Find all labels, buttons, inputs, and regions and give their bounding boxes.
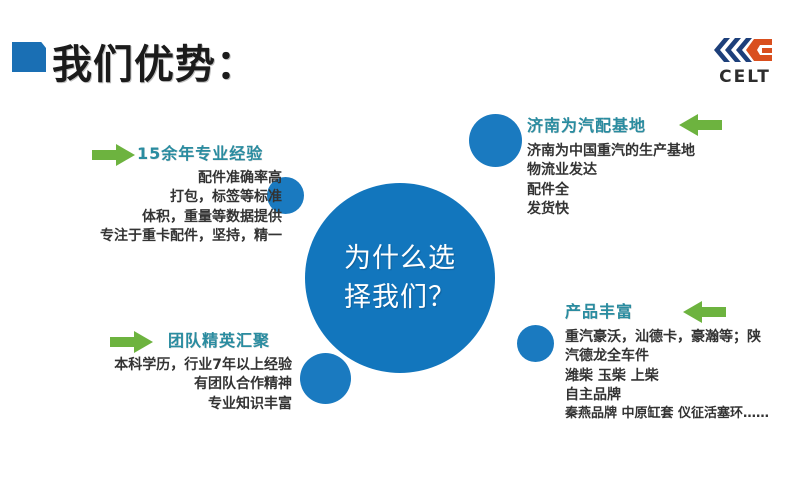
- feature-heading-products: 产品丰富: [565, 298, 800, 322]
- celt-chevron-c-logo-icon: [710, 33, 780, 67]
- feature-body-products: 重汽豪沃，汕德卡，豪瀚等；陕 汽德龙全车件 潍柴 玉柴 上柴 自主品牌 秦燕品牌…: [565, 328, 800, 423]
- feature-body-team: 本科学历，行业7年以上经验 有团队合作精神 专业知识丰富: [0, 356, 310, 414]
- feature-heading-team: 团队精英汇聚: [168, 327, 310, 351]
- feature-block-products: 产品丰富 重汽豪沃，汕德卡，豪瀚等；陕 汽德龙全车件 潍柴 玉柴 上柴 自主品牌…: [565, 298, 800, 423]
- slide-canvas: 我们优势： CELT 为什么选择我们？ 15余年专业经验 配件准确率高 打包，标…: [0, 0, 800, 480]
- page-title: 我们优势：: [52, 32, 257, 90]
- feature-heading-experience: 15余年专业经验: [137, 140, 300, 164]
- feature-line: 体积，重量等数据提供: [0, 208, 282, 227]
- feature-body-base: 济南为中国重汽的生产基地 物流业发达 配件全 发货快: [527, 142, 797, 219]
- feature-line: 配件准确率高: [0, 169, 282, 188]
- feature-line: 有团队合作精神: [0, 375, 292, 394]
- feature-body-experience: 配件准确率高 打包，标签等标准 体积，重量等数据提供 专注于重卡配件，坚持，精一: [0, 169, 300, 246]
- feature-line: 配件全: [527, 181, 797, 200]
- feature-line: 秦燕品牌 中原缸套 仪征活塞环……: [565, 405, 800, 423]
- title-marker-icon: [12, 42, 46, 72]
- feature-line: 重汽豪沃，汕德卡，豪瀚等；陕: [565, 328, 800, 347]
- feature-line: 汽德龙全车件: [565, 347, 800, 366]
- feature-line: 专注于重卡配件，坚持，精一: [0, 227, 282, 246]
- feature-line: 物流业发达: [527, 161, 797, 180]
- feature-line: 专业知识丰富: [0, 395, 292, 414]
- node-circle-products: [517, 325, 554, 362]
- feature-line: 发货快: [527, 200, 797, 219]
- company-logo: CELT: [702, 30, 788, 88]
- center-circle-label: 为什么选择我们？: [335, 239, 465, 317]
- feature-line: 打包，标签等标准: [0, 188, 282, 207]
- feature-block-base: 济南为汽配基地 济南为中国重汽的生产基地 物流业发达 配件全 发货快: [527, 112, 797, 219]
- feature-line: 潍柴 玉柴 上柴: [565, 367, 800, 386]
- logo-text: CELT: [719, 69, 771, 86]
- feature-heading-base: 济南为汽配基地: [527, 112, 797, 136]
- center-circle: 为什么选择我们？: [305, 183, 495, 373]
- feature-line: 本科学历，行业7年以上经验: [0, 356, 292, 375]
- feature-block-experience: 15余年专业经验 配件准确率高 打包，标签等标准 体积，重量等数据提供 专注于重…: [0, 140, 300, 246]
- feature-block-team: 团队精英汇聚 本科学历，行业7年以上经验 有团队合作精神 专业知识丰富: [0, 327, 310, 414]
- node-circle-base: [469, 114, 522, 167]
- feature-line: 济南为中国重汽的生产基地: [527, 142, 797, 161]
- feature-line: 自主品牌: [565, 386, 800, 405]
